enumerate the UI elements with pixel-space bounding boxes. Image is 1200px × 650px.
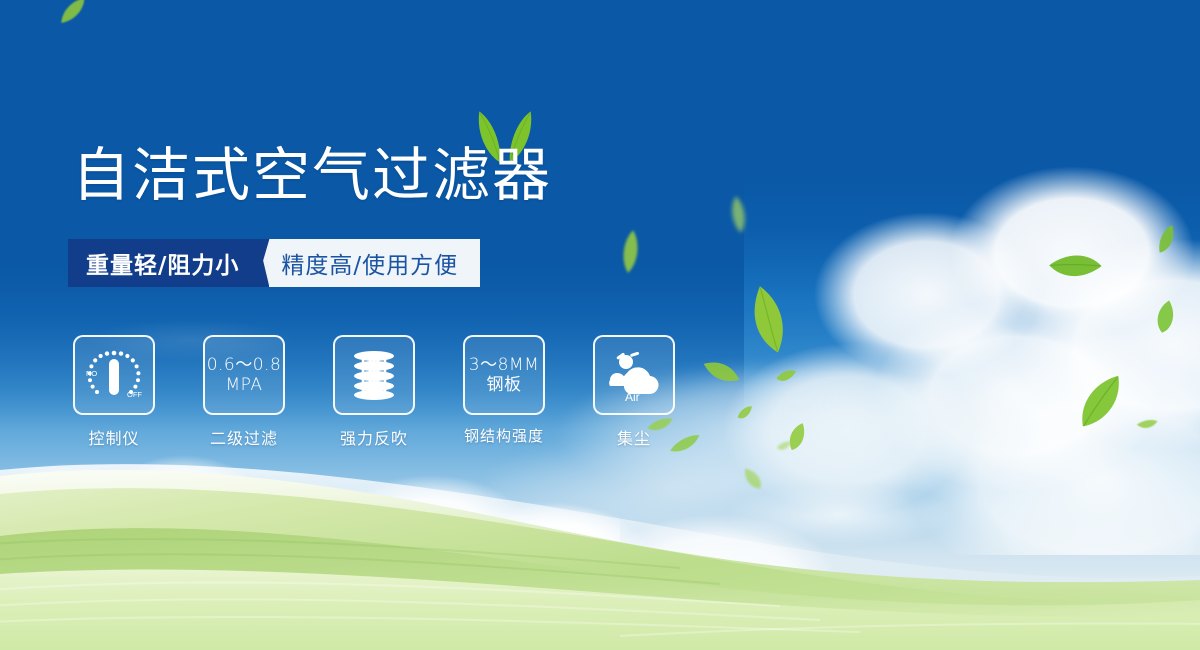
grass-field (0, 440, 1200, 650)
feature-label: 二级过滤 (210, 425, 278, 449)
subtitle-left: 重量轻/阻力小 (68, 239, 269, 287)
feature-label: 钢结构强度 (464, 425, 544, 446)
feature-icon-box: NO OFF (73, 335, 155, 415)
feature-text: 3〜8MM 钢板 (469, 355, 539, 395)
subtitle-bar: 重量轻/阻力小 精度高/使用方便 (68, 239, 480, 287)
feature-icon-box: Air (593, 335, 675, 415)
feature-text-line2: 钢板 (469, 375, 539, 395)
subtitle-right: 精度高/使用方便 (255, 239, 480, 287)
feature-item-pressure[interactable]: 0.6〜0.8 MPA 二级过滤 (202, 335, 286, 449)
feature-icon-box: 0.6〜0.8 MPA (203, 335, 285, 415)
dial-label-no: NO (86, 369, 97, 378)
feature-label: 集尘 (617, 425, 651, 449)
cloud-air-icon: Air (602, 346, 666, 404)
page-title: 自洁式空气过滤器 (72, 146, 552, 204)
feature-text-line2: MPA (207, 375, 282, 395)
feature-icon-box: 3〜8MM 钢板 (463, 335, 545, 415)
dial-knob-icon: NO OFF (81, 345, 147, 405)
feature-label: 强力反吹 (340, 425, 408, 449)
product-banner: 自洁式空气过滤器 重量轻/阻力小 精度高/使用方便 (0, 0, 1200, 650)
feature-icon-box (333, 335, 415, 415)
feature-label: 控制仪 (88, 425, 139, 449)
feature-list: NO OFF 控制仪 0.6〜0.8 MPA 二级过滤 (72, 335, 676, 449)
dial-label-off: OFF (127, 390, 142, 399)
feature-text-line1: 3〜8MM (469, 355, 539, 375)
feature-item-steel[interactable]: 3〜8MM 钢板 钢结构强度 (462, 335, 546, 449)
feature-text: 0.6〜0.8 MPA (207, 355, 282, 395)
feature-item-dust[interactable]: Air 集尘 (592, 335, 676, 449)
filter-coil-icon (345, 346, 403, 404)
feature-text-line1: 0.6〜0.8 (207, 355, 282, 375)
feature-item-controller[interactable]: NO OFF 控制仪 (72, 335, 156, 449)
cloud-air-caption: Air (625, 390, 640, 404)
feature-item-backflush[interactable]: 强力反吹 (332, 335, 416, 449)
